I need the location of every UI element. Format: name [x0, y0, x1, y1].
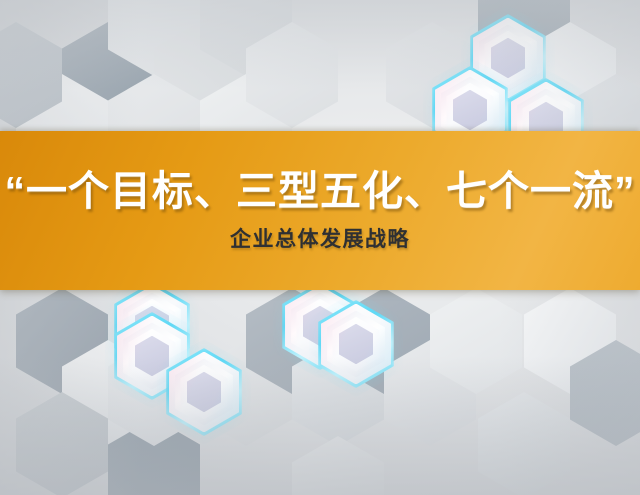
title-banner: “一个目标、三型五化、七个一流” 企业总体发展战略	[0, 131, 640, 290]
page-title: “一个目标、三型五化、七个一流”	[5, 170, 636, 213]
presentation-slide: “一个目标、三型五化、七个一流” 企业总体发展战略	[0, 0, 640, 495]
page-subtitle: 企业总体发展战略	[230, 228, 410, 251]
